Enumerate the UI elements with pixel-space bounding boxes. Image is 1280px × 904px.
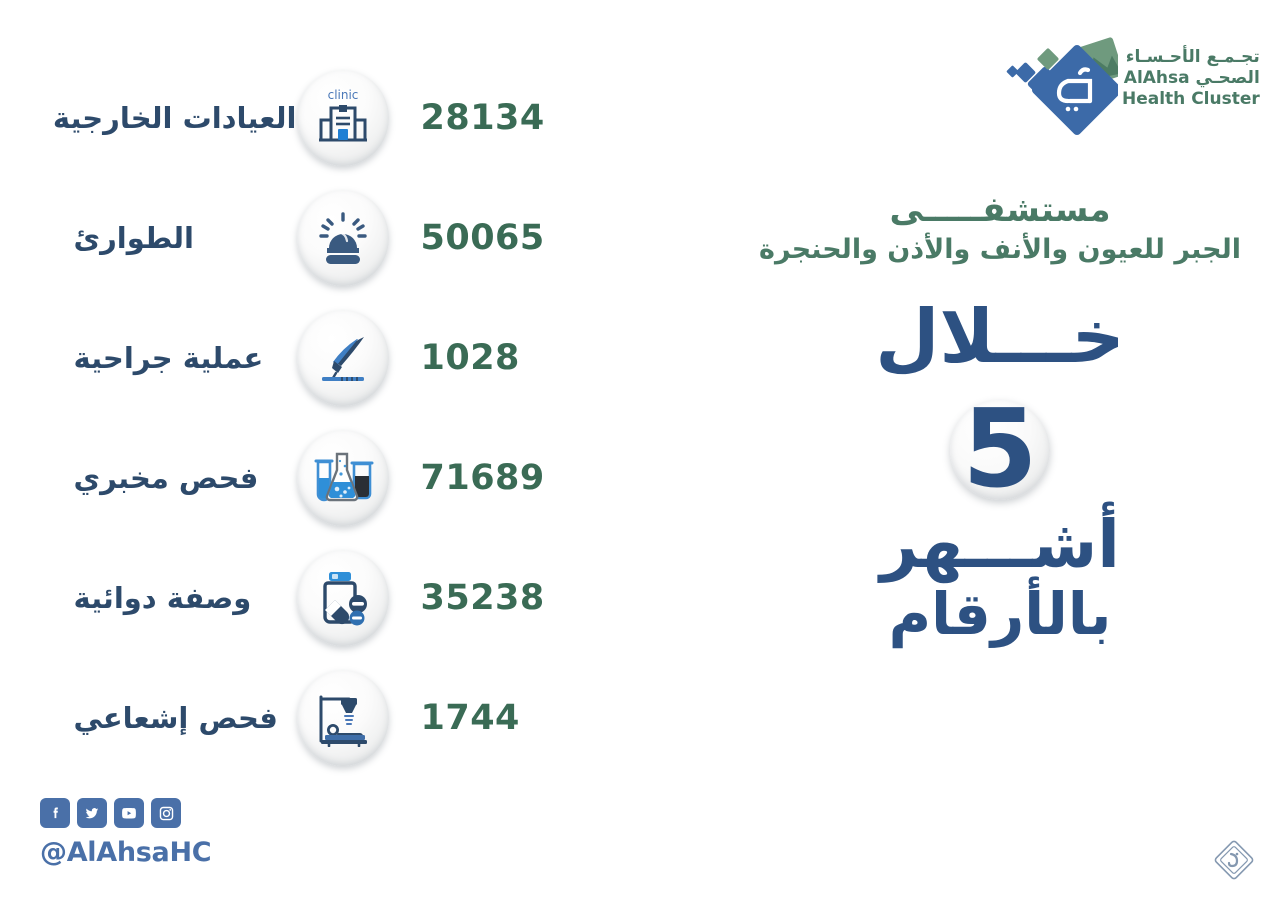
stat-row: وصفة دوائية 35238 <box>0 538 640 658</box>
stat-row: الطوارئ 50065 <box>0 178 640 298</box>
stat-row: العيادات الخارجية clinic 28134 <box>0 58 640 178</box>
stat-row: عملية جراحية 1028 <box>0 298 640 418</box>
statistics-panel: العيادات الخارجية clinic 28134 الطوارئ <box>0 58 640 788</box>
stat-value: 1028 <box>389 338 589 378</box>
twitter-icon[interactable] <box>77 798 107 828</box>
stat-value: 1744 <box>389 698 589 738</box>
laboratory-flask-icon <box>297 430 389 526</box>
logo-english-line-2: Health Cluster <box>1122 89 1260 109</box>
facebook-icon[interactable] <box>40 798 70 828</box>
hospital-name-line-2: الجبر للعيون والأنف والأذن والحنجرة <box>720 234 1280 265</box>
duration-number: 5 <box>950 396 1050 504</box>
clinic-icon-caption: clinic <box>327 88 358 102</box>
stat-value: 50065 <box>389 218 589 258</box>
hospital-name: مستشفـــــى الجبر للعيون والأنف والأذن و… <box>720 190 1280 265</box>
alahsa-health-cluster-logo: تجـمـع الأحـسـاء الصحـي AlAhsa Health Cl… <box>1006 20 1266 142</box>
hospital-name-line-1: مستشفـــــى <box>720 190 1280 230</box>
surgery-scalpel-icon <box>297 310 389 406</box>
stat-row: فحص إشعاعي <box>0 658 640 778</box>
stat-value: 28134 <box>389 98 589 138</box>
youtube-icon[interactable] <box>114 798 144 828</box>
logo-arabic-line-1: تجـمـع الأحـسـاء <box>1122 47 1260 67</box>
stat-label: وصفة دوائية <box>52 581 297 615</box>
social-footer: @AlAhsaHC <box>40 798 211 868</box>
instagram-icon[interactable] <box>151 798 181 828</box>
logo-arabic-line-2: الصحـي AlAhsa <box>1122 68 1260 88</box>
stat-label: العيادات الخارجية <box>52 101 297 135</box>
stat-row: فحص مخبري <box>0 418 640 538</box>
duration-word: خـــلال <box>720 300 1280 374</box>
social-handle: @AlAhsaHC <box>40 837 211 868</box>
stat-label: الطوارئ <box>52 221 297 255</box>
logo-text-block: تجـمـع الأحـسـاء الصحـي AlAhsa Health Cl… <box>1122 47 1260 115</box>
clinic-building-icon: clinic <box>297 70 389 166</box>
duration-number-badge: 5 <box>950 400 1050 500</box>
social-icon-list <box>40 798 211 828</box>
stat-value: 71689 <box>389 458 589 498</box>
stat-value: 35238 <box>389 578 589 618</box>
stat-label: فحص إشعاعي <box>52 701 297 735</box>
alahsa-health-cluster-diamond-mark <box>1006 25 1118 137</box>
stat-label: عملية جراحية <box>52 341 297 375</box>
medicine-bottle-icon <box>297 550 389 646</box>
ministry-of-health-diamond-watermark <box>1212 838 1256 882</box>
duration-unit: أشـــهر <box>720 510 1280 579</box>
stat-label: فحص مخبري <box>52 461 297 495</box>
emergency-siren-icon <box>297 190 389 286</box>
title-panel: تجـمـع الأحـسـاء الصحـي AlAhsa Health Cl… <box>640 0 1280 904</box>
xray-machine-icon <box>297 670 389 766</box>
duration-suffix: بالأرقام <box>720 583 1280 647</box>
duration-block: خـــلال 5 أشـــهر بالأرقام <box>720 300 1280 647</box>
